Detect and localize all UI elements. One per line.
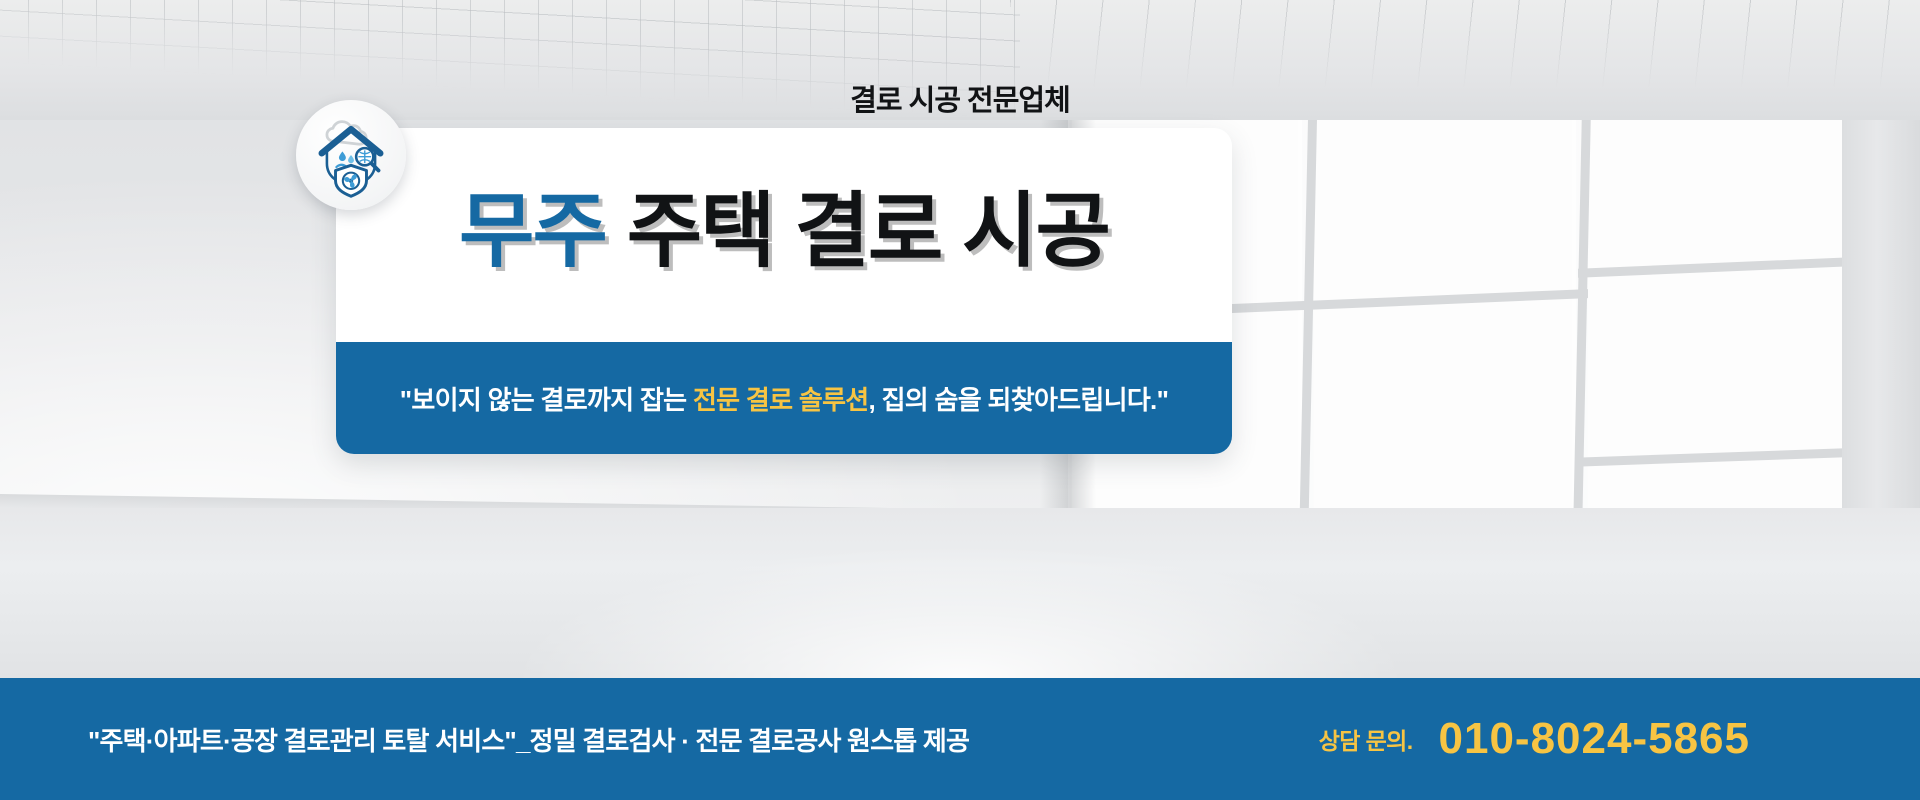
footer-tagline: "주택·아파트·공장 결로관리 토탈 서비스"_정밀 결로검사 · 전문 결로공… — [88, 721, 969, 758]
quote-tail: , 집의 숨을 되찾아드립니다." — [869, 385, 1169, 415]
kicker-wrapper: 결로 시공 전문업체 — [0, 77, 1920, 119]
headline-card: 무주 주택 결로 시공 "보이지 않는 결로까지 잡는 전문 결로 솔루션, 집… — [336, 128, 1232, 454]
floor-light-glow — [430, 488, 1490, 678]
quote-text: "보이지 않는 결로까지 잡는 전문 결로 솔루션, 집의 숨을 되찾아드립니다… — [400, 380, 1168, 417]
page-title: 무주 주택 결로 시공 — [459, 191, 1109, 273]
card-title-area: 무주 주택 결로 시공 — [336, 128, 1232, 342]
quote-highlight: 전문 결로 솔루션 — [693, 385, 869, 415]
kicker-text: 결로 시공 전문업체 — [850, 77, 1070, 119]
quote-lead: "보이지 않는 결로까지 잡는 — [400, 385, 693, 415]
contact-cta[interactable]: 상담 문의. 010-8024-5865 — [1319, 714, 1750, 764]
quote-bar: "보이지 않는 결로까지 잡는 전문 결로 솔루션, 집의 숨을 되찾아드립니다… — [336, 342, 1232, 454]
contact-label: 상담 문의. — [1319, 722, 1413, 756]
phone-number[interactable]: 010-8024-5865 — [1439, 714, 1750, 764]
page-title-rest: 주택 결로 시공 — [606, 186, 1109, 277]
footer-bar: "주택·아파트·공장 결로관리 토탈 서비스"_정밀 결로검사 · 전문 결로공… — [0, 678, 1920, 800]
page-title-region: 무주 — [459, 186, 606, 277]
window-pane — [1314, 66, 1576, 556]
house-moisture-inspection-icon — [308, 112, 394, 198]
